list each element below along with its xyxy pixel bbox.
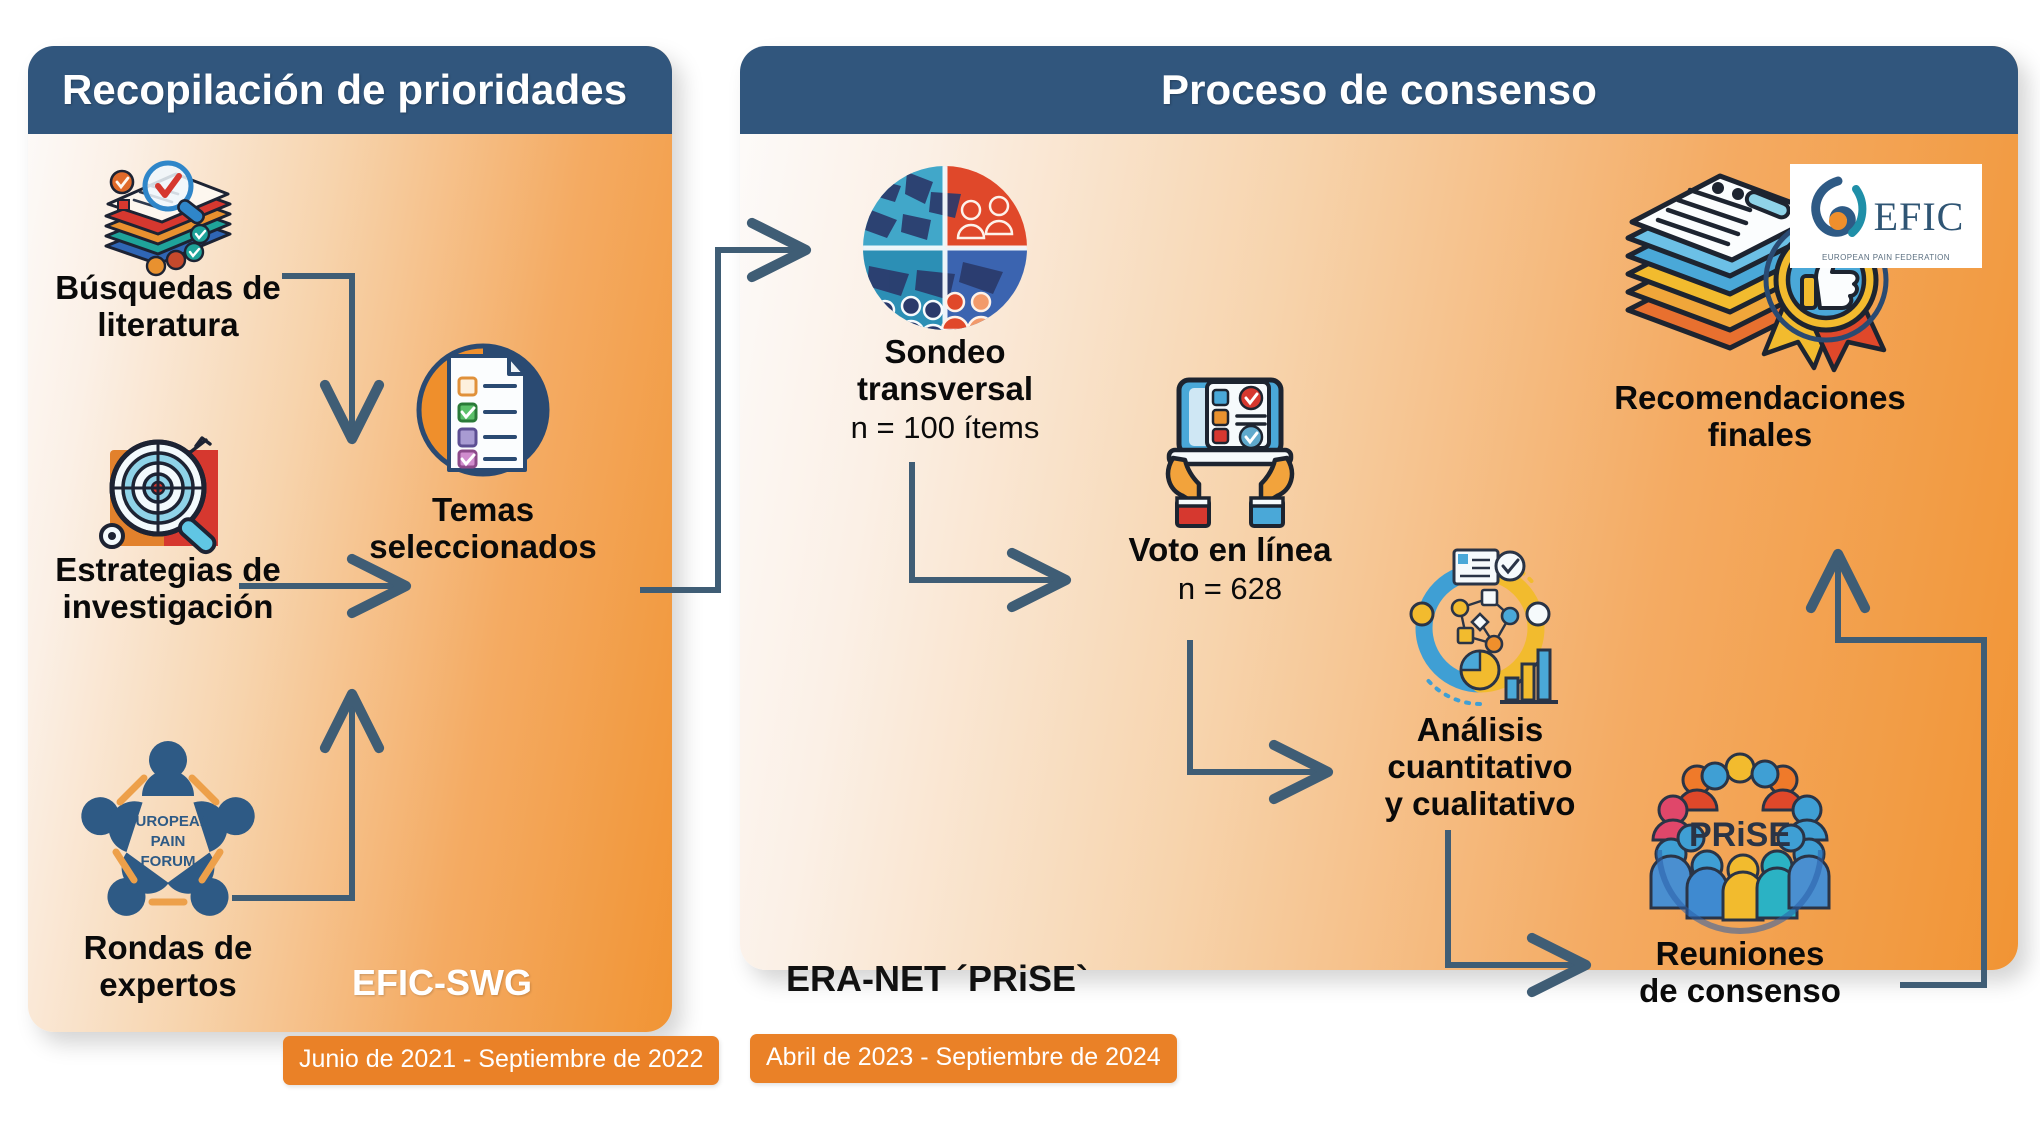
node-expert-rounds: EUROPEAN PAIN FORUM Rondas de expertos — [28, 730, 308, 1004]
node-cross-survey-sub: n = 100 ítems — [800, 410, 1090, 446]
node-consensus-meetings-label: Reuniones de consenso — [1590, 936, 1890, 1010]
node-literature: Búsquedas de literatura — [28, 160, 308, 344]
epf-line2: PAIN — [150, 833, 185, 850]
org-label-era-net-prise: ERA-NET ´PRiSE` — [786, 958, 1088, 1000]
efic-logo: EFIC EUROPEAN PAIN FEDERATION — [1790, 164, 1982, 268]
panel-left-header: Recopilación de prioridades — [28, 46, 672, 134]
hands-ballot-tablet-icon — [1155, 372, 1305, 532]
panel-right-title: Proceso de consenso — [1161, 66, 1597, 114]
org-label-efic-swg: EFIC-SWG — [352, 962, 532, 1004]
node-analysis: Análisis cuantitativo y cualitativo — [1330, 552, 1630, 823]
node-analysis-label: Análisis cuantitativo y cualitativo — [1330, 712, 1630, 823]
data-analysis-cycle-icon — [1394, 552, 1566, 712]
diagram-canvas: Recopilación de prioridades — [0, 0, 2040, 1131]
target-magnifier-icon — [88, 432, 248, 552]
prise-people-circle-logo: PRiSE — [1645, 746, 1835, 936]
europe-globe-people-icon — [859, 162, 1031, 334]
node-expert-rounds-label: Rondas de expertos — [28, 930, 308, 1004]
node-final-recommendations-label: Recomendaciones finales — [1560, 380, 1960, 454]
epf-line3: FORUM — [140, 853, 195, 870]
efic-swirl-icon — [1808, 177, 1868, 255]
node-literature-label: Búsquedas de literatura — [28, 270, 308, 344]
node-cross-survey: Sondeo transversal n = 100 ítems — [800, 162, 1090, 446]
stacked-documents-magnifier-icon — [88, 160, 248, 270]
date-badge-left: Junio de 2021 - Septiembre de 2022 — [283, 1036, 719, 1085]
checklist-document-circle-icon — [403, 332, 563, 492]
node-selected-topics: Temas seleccionados — [318, 332, 648, 566]
node-consensus-meetings: PRiSE Reuniones de consenso — [1590, 746, 1890, 1010]
panel-right-header: Proceso de consenso — [740, 46, 2018, 134]
node-cross-survey-label: Sondeo transversal — [800, 334, 1090, 408]
efic-wordmark: EFIC — [1874, 193, 1965, 240]
efic-subtitle: EUROPEAN PAIN FEDERATION — [1790, 253, 1982, 262]
date-badge-right: Abril de 2023 - Septiembre de 2024 — [750, 1034, 1177, 1083]
european-pain-forum-logo: EUROPEAN PAIN FORUM — [76, 730, 261, 930]
panel-left-title: Recopilación de prioridades — [62, 66, 627, 114]
prise-wordmark: PRiSE — [1689, 816, 1791, 854]
node-research-strategies: Estrategias de investigación — [28, 432, 308, 626]
node-selected-topics-label: Temas seleccionados — [318, 492, 648, 566]
epf-line1: EUROPEAN — [125, 813, 210, 830]
node-research-strategies-label: Estrategias de investigación — [28, 552, 308, 626]
